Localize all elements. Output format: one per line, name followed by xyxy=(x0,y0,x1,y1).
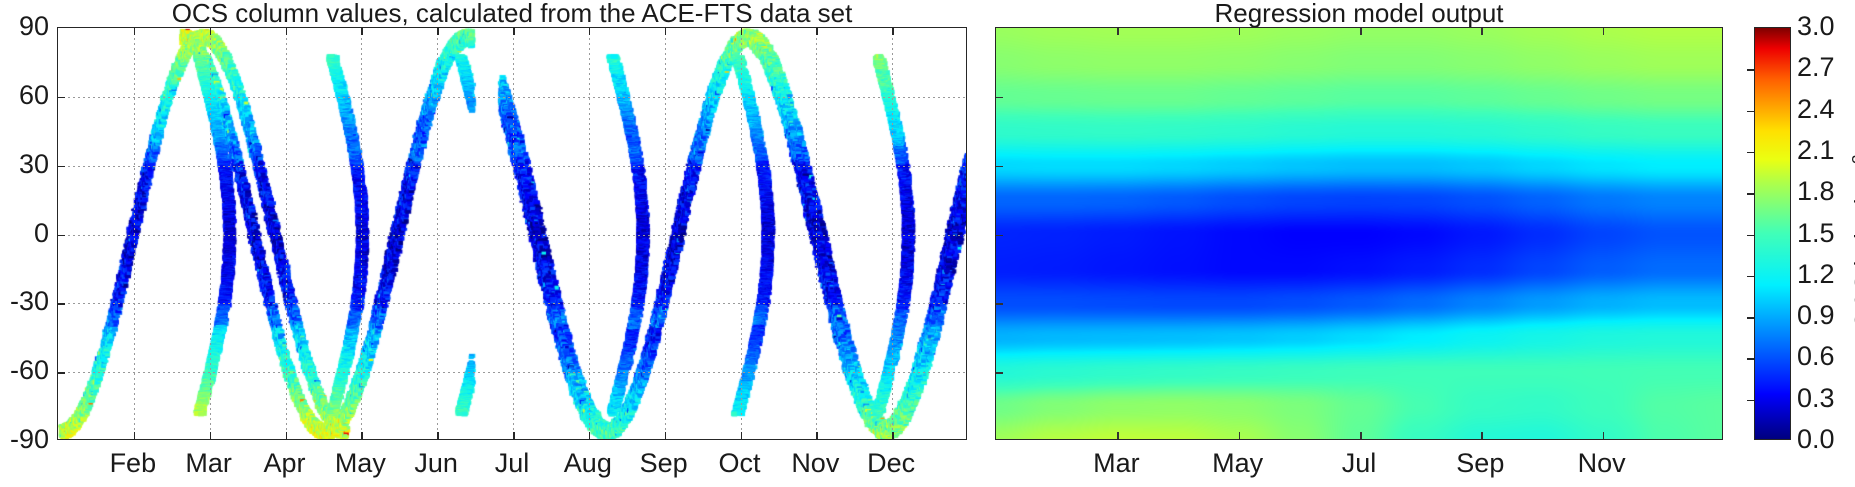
colorbar-tick-mark xyxy=(1747,276,1754,278)
left-panel-gridline-horizontal xyxy=(58,97,966,98)
left-panel-x-tick-mark xyxy=(816,432,818,439)
colorbar-tick-label: 1.2 xyxy=(1797,261,1835,288)
left-panel-y-tick-label: 0 xyxy=(0,220,49,247)
left-panel-gridline-vertical xyxy=(816,28,817,439)
left-panel-gridline-vertical xyxy=(210,28,211,439)
left-panel-gridline-vertical xyxy=(361,28,362,439)
left-panel-y-tick-label: -60 xyxy=(0,357,49,384)
right-panel-x-tick-mark xyxy=(1360,28,1362,35)
left-panel-y-tick-label: 30 xyxy=(0,151,49,178)
left-panel-y-tick-label: 60 xyxy=(0,82,49,109)
colorbar-tick-label: 0.6 xyxy=(1797,343,1835,370)
regression-model-heatmap-panel xyxy=(995,27,1723,440)
right-panel-x-tick-mark xyxy=(1239,432,1241,439)
left-panel-x-tick-mark xyxy=(210,432,212,439)
right-panel-y-tick-mark xyxy=(996,97,1003,99)
left-panel-x-tick-mark xyxy=(741,28,743,35)
left-panel-x-tick-mark xyxy=(210,28,212,35)
left-panel-x-tick-mark xyxy=(589,432,591,439)
colorbar-tick-mark xyxy=(1747,235,1754,237)
colorbar-tick-mark xyxy=(1747,111,1754,113)
left-panel-gridline-vertical xyxy=(892,28,893,439)
left-panel-x-tick-mark xyxy=(741,432,743,439)
left-panel-y-tick-label: -90 xyxy=(0,426,49,453)
left-panel-x-tick-mark xyxy=(437,432,439,439)
colorbar-tick-mark xyxy=(1747,317,1754,319)
right-panel-x-tick-mark xyxy=(1603,432,1605,439)
left-panel-gridline-horizontal xyxy=(58,303,966,304)
right-panel-y-tick-mark xyxy=(996,235,1003,237)
regression-model-plot-area xyxy=(996,28,1723,440)
left-panel-x-tick-mark xyxy=(134,28,136,35)
right-panel-x-tick-label: Jul xyxy=(1299,450,1419,477)
left-panel-x-tick-mark xyxy=(134,432,136,439)
right-panel-title: Regression model output xyxy=(995,0,1723,26)
left-panel-x-tick-mark xyxy=(665,28,667,35)
colorbar-tick-mark xyxy=(1747,152,1754,154)
left-panel-gridline-vertical xyxy=(134,28,135,439)
right-panel-y-tick-mark xyxy=(996,166,1003,168)
left-panel-x-tick-mark xyxy=(816,28,818,35)
left-panel-x-tick-mark xyxy=(361,432,363,439)
right-panel-x-tick-mark xyxy=(1360,432,1362,439)
left-panel-x-tick-mark xyxy=(437,28,439,35)
colorbar-axis-label: OCS in kg km-2 xyxy=(1851,155,1855,331)
colorbar-tick-mark xyxy=(1747,193,1754,195)
right-panel-x-tick-mark xyxy=(1117,28,1119,35)
left-panel-gridline-horizontal xyxy=(58,372,966,373)
colorbar-tick-label: 2.7 xyxy=(1797,54,1835,81)
left-panel-x-tick-mark xyxy=(286,432,288,439)
right-panel-x-tick-label: Sep xyxy=(1420,450,1540,477)
left-panel-y-tick-mark xyxy=(58,235,65,237)
colorbar-tick-label: 2.1 xyxy=(1797,137,1835,164)
left-panel-gridline-vertical xyxy=(437,28,438,439)
right-panel-x-tick-mark xyxy=(1603,28,1605,35)
left-panel-title: OCS column values, calculated from the A… xyxy=(57,0,967,26)
right-panel-x-tick-mark xyxy=(1117,432,1119,439)
left-panel-y-tick-label: -30 xyxy=(0,288,49,315)
colorbar-tick-label: 1.5 xyxy=(1797,220,1835,247)
right-panel-x-tick-mark xyxy=(1481,28,1483,35)
colorbar-tick-label: 0.9 xyxy=(1797,302,1835,329)
colorbar-axis-label-exponent: -2 xyxy=(1848,155,1855,170)
right-panel-y-tick-mark xyxy=(996,372,1003,374)
left-panel-x-tick-mark xyxy=(892,28,894,35)
colorbar-axis-label-text: OCS in kg km xyxy=(1849,170,1855,330)
left-panel-gridline-horizontal xyxy=(58,166,966,167)
colorbar-tick-label: 1.8 xyxy=(1797,178,1835,205)
left-panel-x-tick-mark xyxy=(513,432,515,439)
ace-fts-scatter-panel xyxy=(57,27,967,440)
left-panel-y-tick-mark xyxy=(58,166,65,168)
colorbar-tick-mark xyxy=(1747,400,1754,402)
right-panel-x-tick-mark xyxy=(1481,432,1483,439)
left-panel-gridline-vertical xyxy=(589,28,590,439)
left-panel-gridline-horizontal xyxy=(58,235,966,236)
colorbar-tick-mark xyxy=(1747,69,1754,71)
left-panel-x-tick-mark xyxy=(665,432,667,439)
right-panel-x-tick-label: May xyxy=(1178,450,1298,477)
left-panel-gridline-vertical xyxy=(513,28,514,439)
left-panel-x-tick-mark xyxy=(892,432,894,439)
left-panel-y-tick-mark xyxy=(58,97,65,99)
left-panel-x-tick-mark xyxy=(361,28,363,35)
colorbar-tick-mark xyxy=(1747,358,1754,360)
left-panel-x-tick-mark xyxy=(513,28,515,35)
left-panel-y-tick-mark xyxy=(58,372,65,374)
colorbar-gradient xyxy=(1755,28,1790,439)
left-panel-gridline-vertical xyxy=(741,28,742,439)
left-panel-x-tick-mark xyxy=(286,28,288,35)
figure-root: OCS column values, calculated from the A… xyxy=(0,0,1855,487)
right-panel-y-tick-mark xyxy=(996,303,1003,305)
colorbar xyxy=(1754,27,1791,440)
left-panel-x-tick-mark xyxy=(589,28,591,35)
right-panel-x-tick-label: Nov xyxy=(1542,450,1662,477)
left-panel-gridline-vertical xyxy=(286,28,287,439)
colorbar-tick-label: 0.0 xyxy=(1797,426,1835,453)
left-panel-x-tick-label: Dec xyxy=(831,450,951,477)
right-panel-x-tick-mark xyxy=(1239,28,1241,35)
left-panel-y-tick-label: 90 xyxy=(0,13,49,40)
colorbar-tick-label: 3.0 xyxy=(1797,13,1835,40)
right-panel-x-tick-label: Mar xyxy=(1056,450,1176,477)
left-panel-gridline-vertical xyxy=(665,28,666,439)
colorbar-tick-label: 0.3 xyxy=(1797,385,1835,412)
colorbar-tick-label: 2.4 xyxy=(1797,96,1835,123)
left-panel-y-tick-mark xyxy=(58,303,65,305)
